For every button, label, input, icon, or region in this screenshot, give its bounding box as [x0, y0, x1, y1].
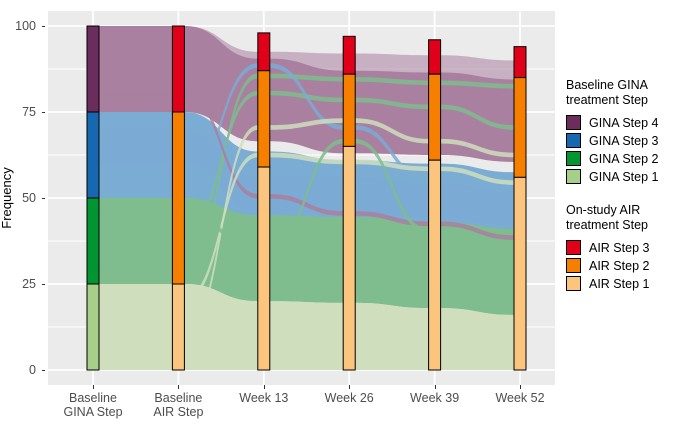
- x-tick-mark: [264, 385, 265, 389]
- chart-root: Frequency 0255075100 BaselineGINA StepBa…: [0, 0, 694, 435]
- legend-swatch-icon: [566, 151, 581, 166]
- x-tick-label-line2: GINA Step: [63, 405, 122, 419]
- x-tick-label: BaselineGINA Step: [63, 391, 122, 419]
- y-tick-mark: [42, 112, 45, 113]
- stratum-block: [87, 284, 99, 370]
- alluvial-svg: [48, 11, 555, 385]
- legend-title-gina-line1: Baseline GINA: [566, 78, 694, 93]
- legend-gina-item[interactable]: GINA Step 3: [566, 132, 694, 149]
- x-tick-mark: [520, 385, 521, 389]
- legend-title-gina-line2: treatment Step: [566, 93, 694, 108]
- legend-swatch-icon: [566, 169, 581, 184]
- stratum-block: [514, 47, 526, 78]
- x-tick-mark: [435, 385, 436, 389]
- x-tick-label: Week 26: [325, 391, 374, 405]
- stratum-block: [172, 284, 184, 370]
- legend-item-label: GINA Step 3: [589, 134, 658, 148]
- stratum-block: [172, 26, 184, 112]
- x-tick-label-line1: Week 26: [325, 391, 374, 405]
- legend-item-label: GINA Step 4: [589, 116, 658, 130]
- x-tick-label-line1: Week 13: [239, 391, 288, 405]
- legend-item-label: AIR Step 3: [589, 241, 649, 255]
- stratum-block: [258, 71, 270, 167]
- legend-air-item[interactable]: AIR Step 3: [566, 239, 694, 256]
- y-tick-label: 25: [22, 277, 42, 291]
- y-tick-label: 100: [15, 19, 42, 33]
- legend-items-gina: GINA Step 4GINA Step 3GINA Step 2GINA St…: [566, 114, 694, 185]
- stratum-block: [429, 74, 441, 160]
- legend-air-item[interactable]: AIR Step 2: [566, 257, 694, 274]
- x-tick-label-line1: Baseline: [63, 391, 122, 405]
- y-tick-mark: [42, 26, 45, 27]
- legend-title-air-line2: treatment Step: [566, 218, 694, 233]
- x-tick-mark: [178, 385, 179, 389]
- stratum-block: [172, 112, 184, 284]
- legend-title-air-line1: On-study AIR: [566, 203, 694, 218]
- legend-item-label: AIR Step 1: [589, 277, 649, 291]
- stratum-block: [258, 33, 270, 71]
- stratum-block: [429, 40, 441, 74]
- legend-title-gina: Baseline GINA treatment Step: [566, 78, 694, 108]
- x-tick-mark: [349, 385, 350, 389]
- legend-gina-item[interactable]: GINA Step 2: [566, 150, 694, 167]
- stratum-block: [87, 112, 99, 198]
- x-tick-label-line1: Week 52: [495, 391, 544, 405]
- x-tick-label: Week 13: [239, 391, 288, 405]
- legend-swatch-icon: [566, 240, 581, 255]
- legend-swatch-icon: [566, 115, 581, 130]
- stratum-block: [429, 160, 441, 370]
- stratum-block: [258, 167, 270, 370]
- y-tick-mark: [42, 284, 45, 285]
- legend-swatch-icon: [566, 258, 581, 273]
- stratum-block: [87, 26, 99, 112]
- legend-item-label: GINA Step 2: [589, 152, 658, 166]
- x-tick-label: Week 52: [495, 391, 544, 405]
- x-tick-mark: [93, 385, 94, 389]
- x-tick-label-line1: Baseline: [153, 391, 203, 405]
- legend-item-label: AIR Step 2: [589, 259, 649, 273]
- legend-title-air: On-study AIR treatment Step: [566, 203, 694, 233]
- legend-air-item[interactable]: AIR Step 1: [566, 275, 694, 292]
- legend-item-label: GINA Step 1: [589, 170, 658, 184]
- y-tick-mark: [42, 198, 45, 199]
- stratum-block: [343, 74, 355, 146]
- y-axis-ticks: 0255075100: [0, 11, 42, 385]
- y-tick-label: 50: [22, 191, 42, 205]
- legend-swatch-icon: [566, 133, 581, 148]
- legend-spacer: [566, 186, 694, 203]
- legend-swatch-icon: [566, 276, 581, 291]
- legend-gina-item[interactable]: GINA Step 1: [566, 168, 694, 185]
- legend: Baseline GINA treatment Step GINA Step 4…: [566, 78, 694, 293]
- y-tick-label: 0: [29, 363, 42, 377]
- x-tick-label-line1: Week 39: [410, 391, 459, 405]
- x-axis-ticks: BaselineGINA StepBaselineAIR StepWeek 13…: [48, 385, 555, 435]
- y-tick-mark: [42, 370, 45, 371]
- y-tick-label: 75: [22, 105, 42, 119]
- x-tick-label: Week 39: [410, 391, 459, 405]
- plot-panel: [48, 11, 555, 385]
- stratum-block: [87, 198, 99, 284]
- stratum-block: [514, 78, 526, 178]
- stratum-block: [343, 146, 355, 370]
- x-tick-label-line2: AIR Step: [153, 405, 203, 419]
- stratum-block: [343, 36, 355, 74]
- legend-items-air: AIR Step 3AIR Step 2AIR Step 1: [566, 239, 694, 292]
- stratum-block: [514, 177, 526, 370]
- x-tick-label: BaselineAIR Step: [153, 391, 203, 419]
- legend-gina-item[interactable]: GINA Step 4: [566, 114, 694, 131]
